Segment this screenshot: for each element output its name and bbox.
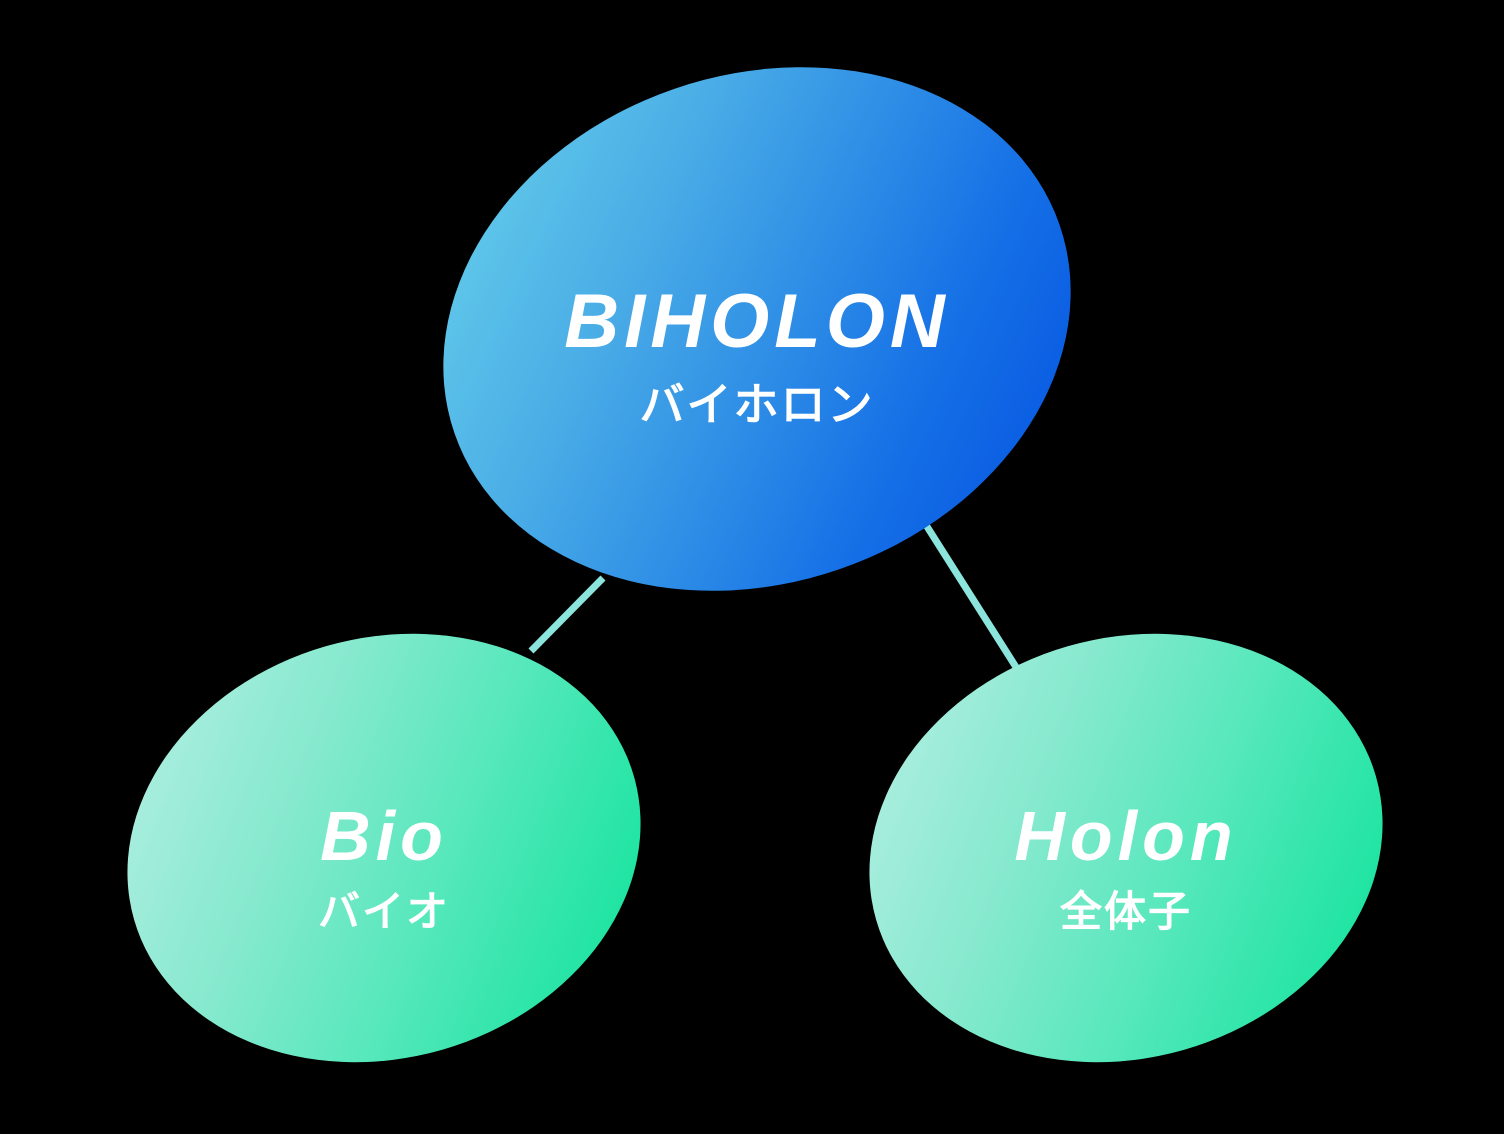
ellipse-shape-holon [818,574,1434,1121]
node-holon[interactable]: Holon 全体子 [866,638,1386,1058]
node-biholon[interactable]: BIHOLON バイホロン [437,75,1077,583]
ellipse-shape-bio [76,574,692,1121]
diagram-canvas: BIHOLON バイホロン Bio バイオ Holon 全体子 [0,0,1504,1134]
ellipse-shape-biholon [372,0,1143,673]
node-layer: BIHOLON バイホロン Bio バイオ Holon 全体子 [0,0,1504,1134]
node-bio[interactable]: Bio バイオ [124,638,644,1058]
